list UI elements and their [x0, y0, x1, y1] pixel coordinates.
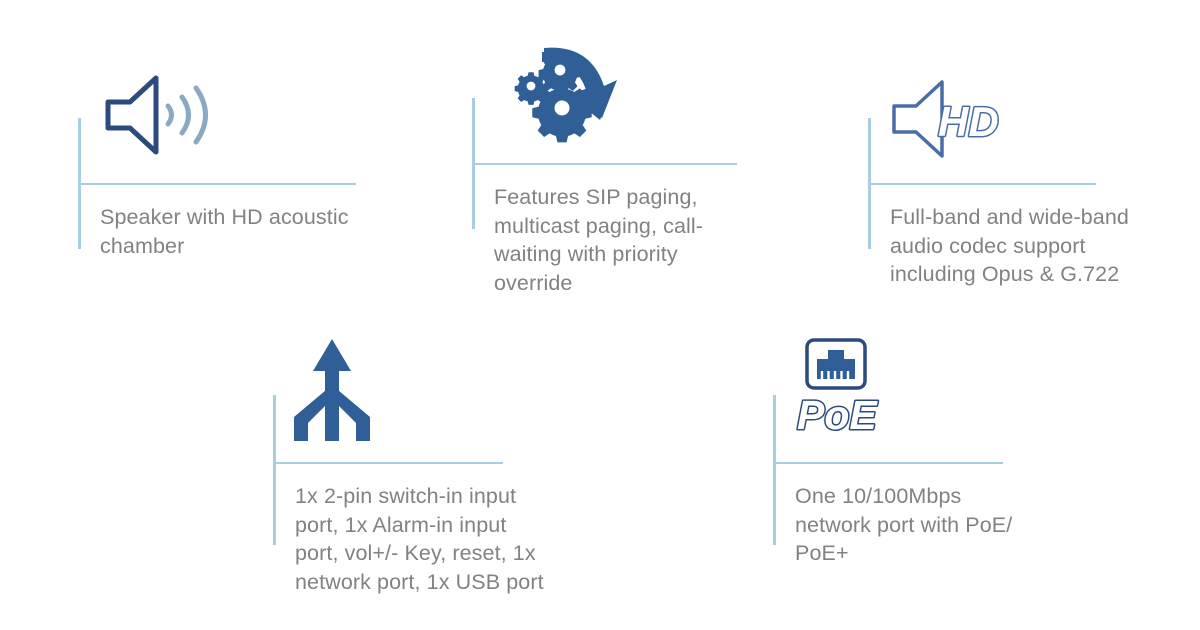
feature-caption: Full-band and wide-band audio codec supp…: [890, 203, 1190, 289]
poe-label: PoE: [797, 392, 878, 438]
hd-label: HD: [938, 98, 999, 145]
feature-caption: Features SIP paging, multicast paging, c…: [494, 183, 794, 297]
poe-rj45-icon: PoE: [795, 337, 895, 447]
connector-horizontal-line: [472, 163, 737, 165]
feature-caption: One 10/100Mbps network port with PoE/ Po…: [795, 482, 1095, 568]
feature-sip-paging: Features SIP paging, multicast paging, c…: [472, 98, 772, 278]
feature-network-poe: PoE One 10/100Mbps network port with PoE…: [773, 395, 1073, 575]
feature-io-ports: 1x 2-pin switch-in input port, 1x Alarm-…: [273, 395, 573, 575]
connector-vertical-line: [273, 395, 276, 545]
speaker-hd-outline-icon: HD: [886, 74, 1011, 164]
feature-audio-codec-support: HD Full-band and wide-band audio codec s…: [868, 118, 1168, 278]
gears-cycle-arrows-icon: [486, 46, 621, 156]
connector-horizontal-line: [773, 462, 1003, 464]
connector-vertical-line: [773, 395, 776, 545]
feature-caption: 1x 2-pin switch-in input port, 1x Alarm-…: [295, 482, 595, 596]
connector-horizontal-line: [78, 183, 356, 185]
connector-horizontal-line: [868, 183, 1096, 185]
connector-horizontal-line: [273, 462, 503, 464]
speaker-sound-waves-icon: [98, 70, 218, 160]
merging-arrows-icon: [287, 337, 377, 447]
feature-caption: Speaker with HD acoustic chamber: [100, 203, 400, 260]
feature-speaker-hd-acoustic-chamber: Speaker with HD acoustic chamber: [78, 118, 378, 278]
